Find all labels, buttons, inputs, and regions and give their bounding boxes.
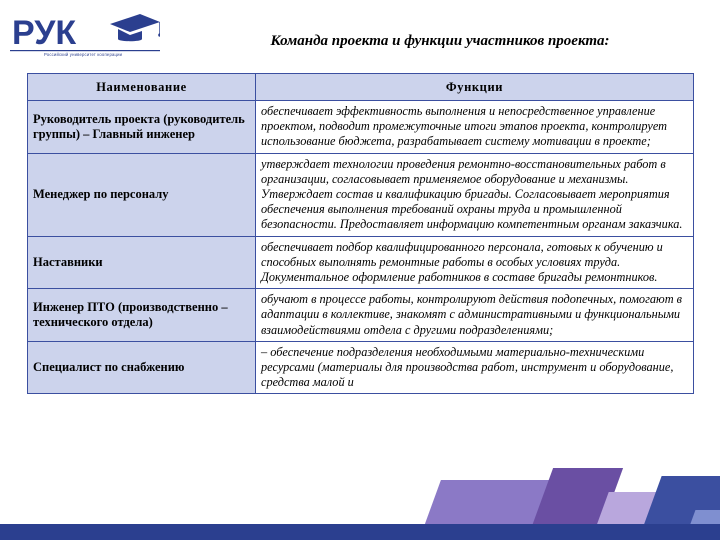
role-name: Специалист по снабжению xyxy=(28,341,256,394)
table-row: Руководитель проекта (руководитель групп… xyxy=(28,101,694,154)
graduation-cap-icon xyxy=(110,14,160,41)
table-header-row: Наименование Функции xyxy=(28,74,694,101)
band-blue-baseline xyxy=(0,524,720,540)
role-functions: обучают в процессе работы, контролируют … xyxy=(256,289,694,342)
role-name: Инженер ПТО (производственно – техническ… xyxy=(28,289,256,342)
decorative-bottom-bands xyxy=(0,460,720,540)
role-functions: – обеспечение подразделения необходимыми… xyxy=(256,341,694,394)
page-title: Команда проекта и функции участников про… xyxy=(170,33,710,50)
logo: РУК Российский университет кооперации xyxy=(10,8,160,70)
table-row: Наставники обеспечивает подбор квалифици… xyxy=(28,236,694,289)
participants-table-wrap: Наименование Функции Руководитель проект… xyxy=(27,73,693,394)
logo-subtitle: Российский университет кооперации xyxy=(44,52,154,57)
role-name: Руководитель проекта (руководитель групп… xyxy=(28,101,256,154)
participants-table: Наименование Функции Руководитель проект… xyxy=(27,73,694,394)
role-name: Менеджер по персоналу xyxy=(28,153,256,236)
role-functions: утверждает технологии проведения ремонтн… xyxy=(256,153,694,236)
role-name: Наставники xyxy=(28,236,256,289)
svg-text:РУК: РУК xyxy=(12,14,76,52)
column-header-name: Наименование xyxy=(28,74,256,101)
table-row: Менеджер по персоналу утверждает техноло… xyxy=(28,153,694,236)
column-header-functions: Функции xyxy=(256,74,694,101)
role-functions: обеспечивает подбор квалифицированного п… xyxy=(256,236,694,289)
table-row: Специалист по снабжению – обеспечение по… xyxy=(28,341,694,394)
role-functions: обеспечивает эффективность выполнения и … xyxy=(256,101,694,154)
logo-wordmark: РУК xyxy=(12,14,76,52)
table-row: Инженер ПТО (производственно – техническ… xyxy=(28,289,694,342)
